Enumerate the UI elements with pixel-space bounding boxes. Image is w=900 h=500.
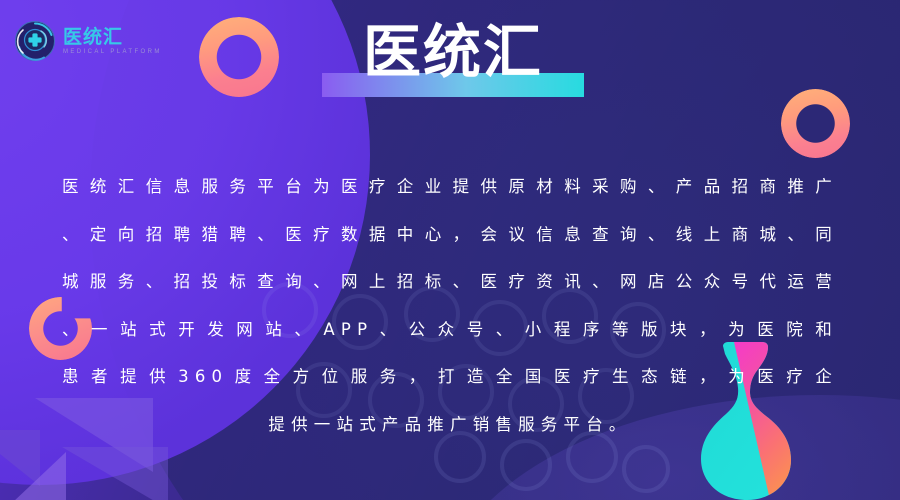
triangle-shape-c <box>62 447 168 500</box>
description-line: 提供一站式产品推广销售服务平台。 <box>62 401 838 449</box>
description-line: 、定向招聘猎聘、医疗数据中心，会议信息查询、线上商城、同 <box>62 211 838 259</box>
description-line: 患者提供360度全方位服务，打造全国医疗生态链，为医疗企 <box>62 353 838 401</box>
description-line: 、一站式开发网站、APP、公众号、小程序等版块，为医院和 <box>62 306 838 354</box>
title-text: 医统汇 <box>322 18 584 86</box>
gradient-ring-top-icon <box>199 17 279 97</box>
brand-logo[interactable]: 医统汇 MEDICAL PLATFORM <box>14 20 162 62</box>
brand-name-cn: 医统汇 <box>63 28 162 47</box>
gradient-ring-right-icon <box>781 89 850 158</box>
triangle-shape-a <box>0 452 66 500</box>
description-block: 医统汇信息服务平台为医疗企业提供原材料采购、产品招商推广 、定向招聘猎聘、医疗数… <box>62 163 838 448</box>
poster-canvas: 医统汇 MEDICAL PLATFORM 医统汇 医统汇信息服务平台为医疗企业提… <box>0 0 900 500</box>
medical-cross-emblem-icon <box>14 20 56 62</box>
description-line: 城服务、招投标查询、网上招标、医疗资讯、网店公众号代运营 <box>62 258 838 306</box>
brand-logo-text: 医统汇 MEDICAL PLATFORM <box>63 28 162 55</box>
description-line: 医统汇信息服务平台为医疗企业提供原材料采购、产品招商推广 <box>62 163 838 211</box>
page-title: 医统汇 <box>322 18 584 100</box>
brand-name-en: MEDICAL PLATFORM <box>63 49 162 55</box>
